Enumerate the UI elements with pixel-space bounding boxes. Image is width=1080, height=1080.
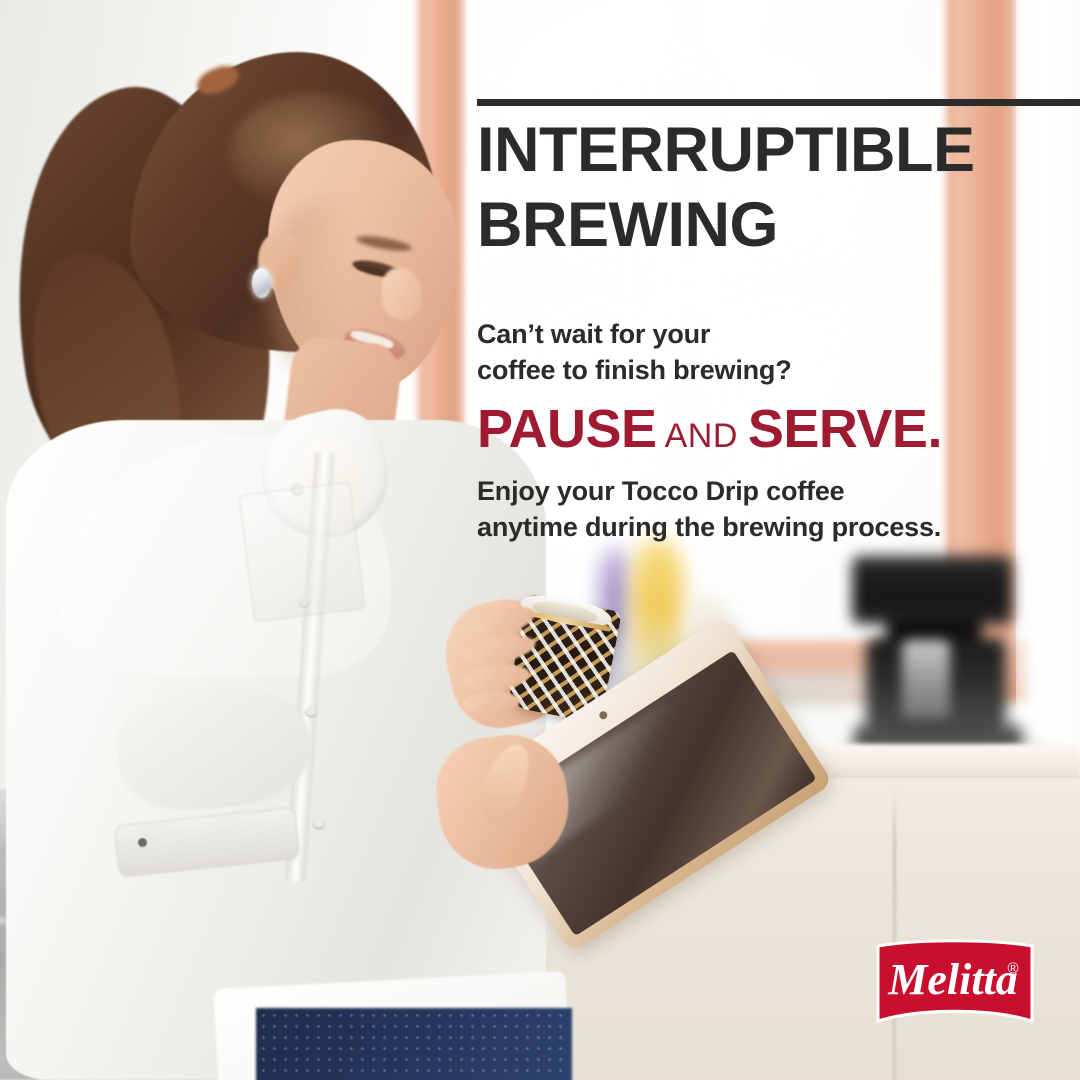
jeans-pattern — [258, 1010, 570, 1080]
subheadline-line-1: Can’t wait for your — [477, 316, 997, 352]
coffee-maker-carafe — [902, 640, 950, 720]
woman-subject — [0, 0, 560, 1080]
earring — [252, 268, 271, 298]
headline-rule — [477, 99, 1080, 106]
headline-line-2: BREWING — [477, 188, 1037, 263]
subheadline: Can’t wait for your coffee to finish bre… — [477, 316, 997, 388]
slogan-word-serve: SERVE. — [748, 399, 942, 459]
body-line-2: anytime during the brewing process. — [477, 509, 1017, 545]
logo-wordmark: Melitta — [887, 955, 1018, 1004]
body-line-1: Enjoy your Tocco Drip coffee — [477, 473, 1017, 509]
page-title: INTERRUPTIBLE BREWING — [477, 113, 1037, 263]
cuff-button — [138, 838, 147, 847]
body-copy: Enjoy your Tocco Drip coffee anytime dur… — [477, 473, 1017, 545]
slogan: PAUSE AND SERVE. — [477, 398, 1017, 460]
headline-line-1: INTERRUPTIBLE — [477, 113, 1037, 188]
advertisement-canvas: INTERRUPTIBLE BREWING Can’t wait for you… — [0, 0, 1080, 1080]
shirt-button — [306, 706, 316, 716]
slogan-connector: AND — [657, 417, 748, 455]
shirt-button — [314, 818, 324, 828]
logo-registered-mark: ® — [1007, 960, 1018, 977]
melitta-logo: Melitta ® — [875, 938, 1035, 1037]
slogan-word-pause: PAUSE — [477, 399, 657, 459]
shirt-pocket — [239, 482, 366, 623]
subheadline-line-2: coffee to finish brewing? — [477, 352, 997, 388]
